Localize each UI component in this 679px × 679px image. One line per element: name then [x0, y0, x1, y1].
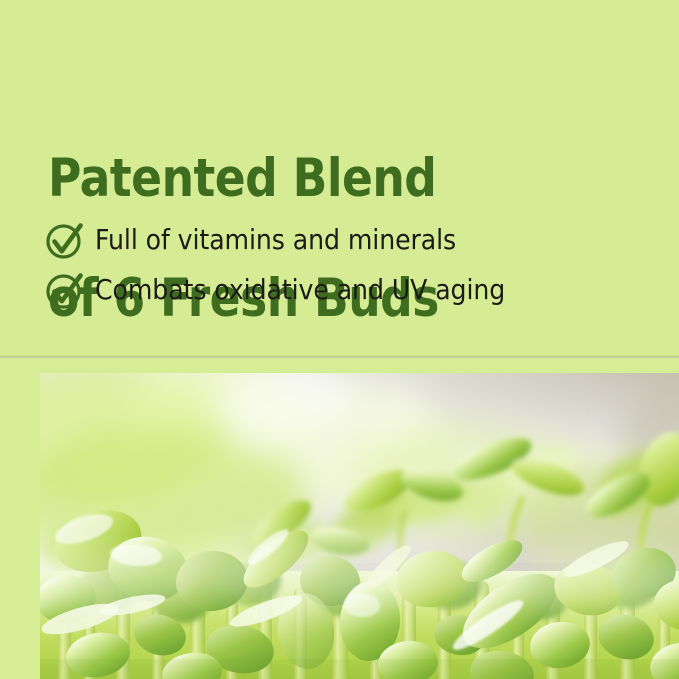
benefit-list: Full of vitamins and minerals Combats ox…: [43, 215, 663, 315]
sprouts-photo: [40, 373, 679, 679]
check-circle-icon-glyph: [43, 218, 87, 262]
product-infographic: Patented Blend of 6 Fresh Buds Full of v…: [0, 0, 679, 679]
check-circle-icon: [43, 268, 95, 312]
headline-line-1: Patented Blend: [48, 149, 564, 209]
check-circle-icon-glyph: [43, 268, 87, 312]
panel-divider: [0, 355, 679, 358]
copy-panel: Patented Blend of 6 Fresh Buds Full of v…: [0, 0, 679, 357]
list-item: Full of vitamins and minerals: [43, 215, 663, 265]
sprouts-photo-illustration: [40, 373, 679, 679]
benefit-label: Full of vitamins and minerals: [95, 226, 456, 254]
benefit-label: Combats oxidative and UV aging: [95, 276, 505, 304]
list-item: Combats oxidative and UV aging: [43, 265, 663, 315]
check-circle-icon: [43, 218, 95, 262]
